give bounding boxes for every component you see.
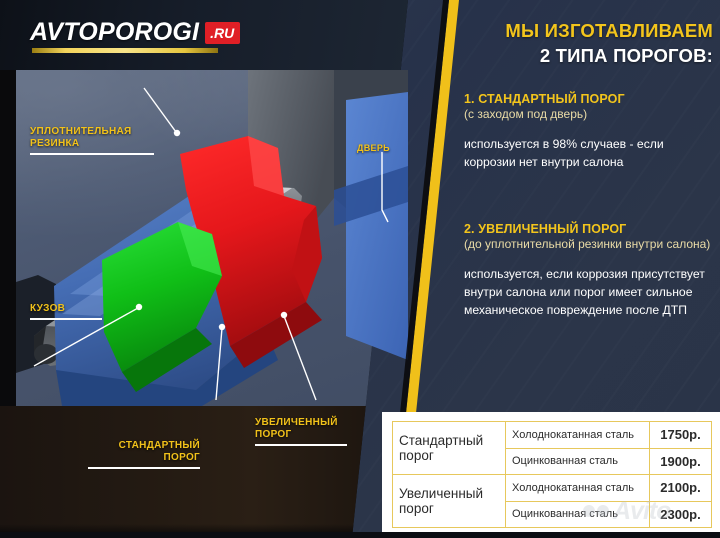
sill-cross-section-illustration — [16, 70, 408, 406]
callout-door: ДВЕРЬ — [357, 143, 403, 154]
callout-extended-sill-rule — [255, 444, 347, 446]
callout-rubber-seal-rule — [30, 153, 154, 155]
price-category-standard: Стандартный порог — [393, 422, 506, 475]
price-material-1: Оцинкованная сталь — [506, 448, 650, 475]
headline: МЫ ИЗГОТАВЛИВАЕМ 2 ТИПА ПОРОГОВ: — [455, 20, 713, 67]
logo-underline-bar — [32, 48, 218, 53]
callout-extended-sill: УВЕЛИЧЕННЫЙ ПОРОГ — [255, 417, 347, 446]
section-1-body: используется в 98% случаев - если корроз… — [464, 136, 716, 172]
callout-rubber-seal: УПЛОТНИТЕЛЬНАЯ РЕЗИНКА — [30, 126, 154, 155]
section-1-subtitle: (с заходом под дверь) — [464, 107, 716, 123]
price-value-0: 1750р. — [650, 422, 712, 449]
price-material-3: Оцинкованная сталь — [506, 501, 650, 528]
section-1-title: 1. СТАНДАРТНЫЙ ПОРОГ — [464, 92, 716, 106]
price-table-card: Стандартный порог Холоднокатанная сталь … — [382, 412, 720, 538]
section-2-body: используется, если коррозия присутствует… — [464, 266, 716, 319]
poster-canvas: AVTOPOROGI .RU УПЛОТНИТЕЛЬНАЯ РЕЗИНКА КУ… — [0, 0, 720, 538]
headline-line-1: МЫ ИЗГОТАВЛИВАЕМ — [455, 20, 713, 42]
callout-car-body-text: КУЗОВ — [30, 303, 65, 314]
price-value-3: 2300р. — [650, 501, 712, 528]
callout-extended-sill-text: УВЕЛИЧЕННЫЙ ПОРОГ — [255, 417, 338, 440]
callout-door-text: ДВЕРЬ — [357, 143, 390, 153]
callout-rubber-seal-text: УПЛОТНИТЕЛЬНАЯ РЕЗИНКА — [30, 126, 132, 149]
callout-standard-sill-text: СТАНДАРТНЫЙ ПОРОГ — [119, 440, 200, 463]
table-row: Увеличенный порог Холоднокатанная сталь … — [393, 475, 712, 502]
section-2-title: 2. УВЕЛИЧЕННЫЙ ПОРОГ — [464, 222, 716, 236]
callout-car-body: КУЗОВ — [30, 303, 102, 320]
price-material-2: Холоднокатанная сталь — [506, 475, 650, 502]
price-value-2: 2100р. — [650, 475, 712, 502]
brand-logo[interactable]: AVTOPOROGI .RU — [30, 20, 240, 45]
table-row: Стандартный порог Холоднокатанная сталь … — [393, 422, 712, 449]
price-table: Стандартный порог Холоднокатанная сталь … — [392, 421, 712, 528]
price-value-1: 1900р. — [650, 448, 712, 475]
section-2-subtitle: (до уплотнительной резинки внутри салона… — [464, 237, 716, 253]
callout-car-body-rule — [30, 318, 102, 320]
door-panel — [346, 92, 408, 360]
headline-line-2: 2 ТИПА ПОРОГОВ: — [455, 45, 713, 67]
logo-wordmark: AVTOPOROGI — [30, 20, 199, 45]
price-material-0: Холоднокатанная сталь — [506, 422, 650, 449]
callout-standard-sill: СТАНДАРТНЫЙ ПОРОГ — [88, 440, 200, 469]
price-category-extended: Увеличенный порог — [393, 475, 506, 528]
section-extended-sill: 2. УВЕЛИЧЕННЫЙ ПОРОГ (до уплотнительной … — [464, 222, 716, 319]
section-standard-sill: 1. СТАНДАРТНЫЙ ПОРОГ (с заходом под двер… — [464, 92, 716, 172]
logo-tld-badge: .RU — [205, 22, 240, 44]
callout-standard-sill-rule — [88, 467, 200, 469]
bottom-frame-edge — [0, 532, 720, 538]
